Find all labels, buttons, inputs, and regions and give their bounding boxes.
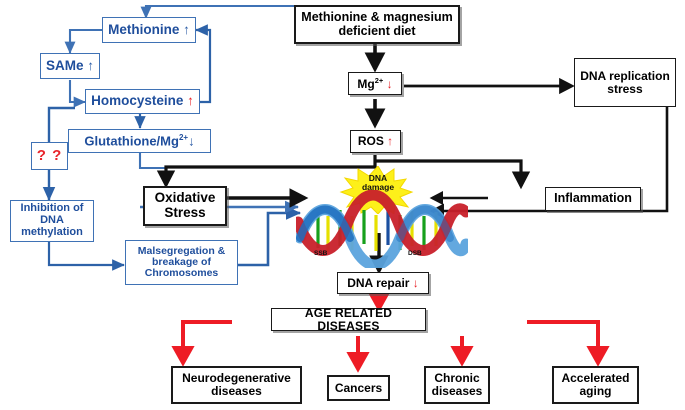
arrow-inhibition-to-malsegregation — [49, 241, 124, 265]
down-arrow-icon: ↓ — [188, 133, 195, 148]
up-arrow-icon: ↑ — [387, 134, 393, 148]
node-malsegregation-chromosomes[interactable]: Malsegregation & breakage of Chromosomes — [125, 240, 238, 285]
node-same[interactable]: SAMe ↑ — [40, 53, 100, 79]
node-inhibition-dna-methylation[interactable]: Inhibition of DNA methylation — [10, 200, 94, 242]
node-cancers[interactable]: Cancers — [327, 375, 390, 401]
ssb-label: SSB — [314, 250, 327, 257]
arrow-same-to-homocysteine — [70, 80, 85, 102]
node-neurodegenerative-diseases[interactable]: Neurodegenerative diseases — [171, 366, 302, 404]
arrow-agerelated-to-accelerated — [527, 322, 598, 362]
node-methionine[interactable]: Methionine ↑ — [102, 17, 196, 43]
diagram-canvas: DNA damage — [0, 0, 685, 410]
arrow-methionine-to-same — [70, 30, 102, 53]
node-oxidative-stress[interactable]: Oxidative Stress — [143, 186, 227, 226]
dna-double-helix-illustration: SSB DSB — [296, 190, 468, 268]
node-dna-replication-stress[interactable]: DNA replication stress — [574, 58, 676, 107]
arrow-agerelated-to-neurodegenerative — [183, 322, 232, 362]
node-magnesium[interactable]: Mg2+ ↓ — [348, 72, 402, 95]
down-arrow-icon: ↓ — [413, 276, 419, 290]
superscript-charge: 2+ — [179, 133, 188, 142]
node-inflammation[interactable]: Inflammation — [545, 187, 641, 211]
node-age-related-diseases[interactable]: AGE RELATED DISEASES — [271, 308, 426, 331]
superscript-charge: 2+ — [375, 76, 383, 85]
node-ros[interactable]: ROS ↑ — [350, 130, 401, 153]
node-glutathione[interactable]: Glutathione/Mg2+↓ — [68, 129, 211, 153]
dsb-label: DSB — [408, 250, 422, 257]
node-accelerated-aging[interactable]: Accelerated aging — [552, 366, 639, 404]
node-homocysteine[interactable]: Homocysteine ↑ — [85, 89, 200, 114]
up-arrow-icon: ↑ — [187, 93, 194, 108]
up-arrow-icon: ↑ — [183, 22, 190, 37]
node-chronic-diseases[interactable]: Chronic diseases — [424, 366, 490, 404]
down-arrow-icon: ↓ — [387, 77, 393, 91]
node-dna-repair[interactable]: DNA repair ↓ — [337, 272, 429, 294]
node-deficient-diet[interactable]: Methionine & magnesium deficient diet — [294, 5, 460, 44]
node-question-marks[interactable]: ? ? — [31, 142, 68, 170]
dna-damage-label: DNA damage — [336, 174, 420, 192]
arrow-glutathione-to-oxidative — [140, 152, 166, 186]
up-arrow-icon: ↑ — [87, 58, 94, 73]
arrow-malsegregation-to-dnadamage — [238, 213, 300, 265]
